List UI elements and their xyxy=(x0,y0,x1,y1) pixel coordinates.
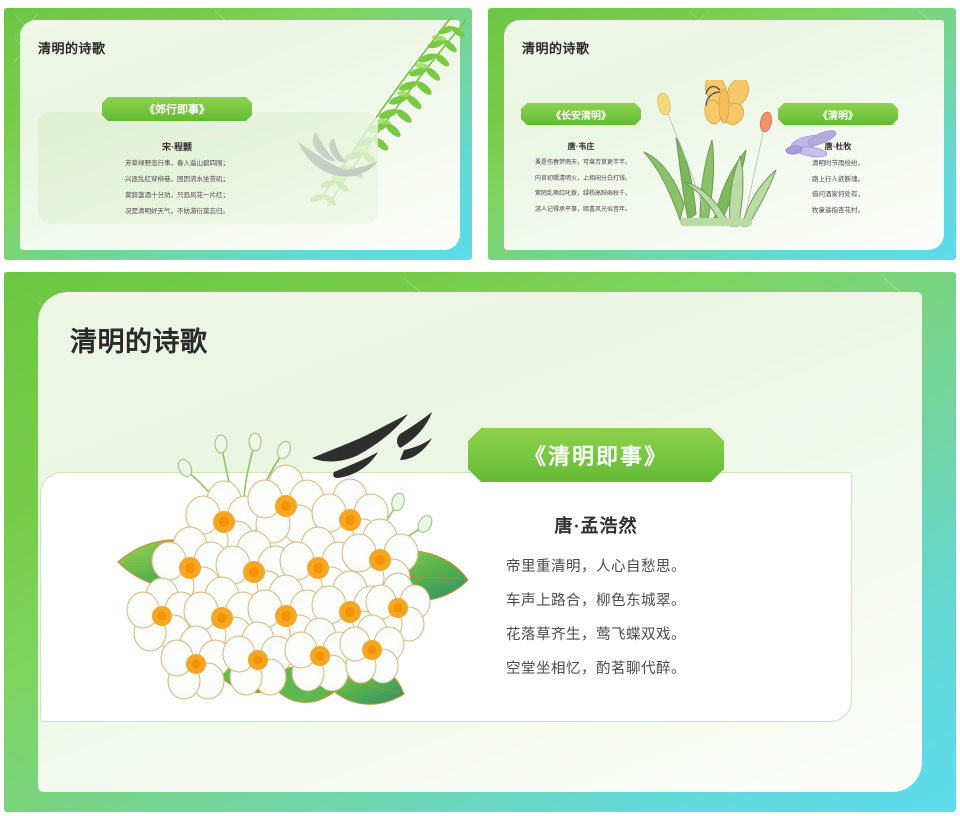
slide-2-poem-author-right: 唐·杜牧 xyxy=(778,141,898,152)
poem-line: 借问酒家何处有， xyxy=(778,187,898,203)
slide-2-poem-badge-right[interactable]: 《清明》 xyxy=(778,103,898,125)
slide-2-poem-badge-left[interactable]: 《长安清明》 xyxy=(521,103,641,125)
poem-line: 兴逐乱红穿柳巷，困因流水坐苔矶； xyxy=(62,172,292,188)
poem-line: 紫陌乱嘶红叱拨，绿杨高映画秋千。 xyxy=(508,187,658,203)
poem-line: 清明时节雨纷纷， xyxy=(778,156,898,172)
slide-3-poem-author: 唐·孟浩然 xyxy=(468,512,724,538)
poem-line: 帝里重清明，人心自愁思。 xyxy=(424,550,768,584)
poem-line: 空堂坐相忆，酌茗聊代醉。 xyxy=(424,652,768,686)
slide-2-title: 清明的诗歌 xyxy=(522,38,590,57)
slide-2-poem-lines-right: 清明时节雨纷纷， 路上行人欲断魂。 借问酒家何处有， 牧童遥指杏花村。 xyxy=(778,156,898,218)
slide-2-poem-lines-left: 蚤是伤春梦雨天，可堪芳草更芊芊。 内官初赐清明火，上相闲分白打钱。 紫陌乱嘶红叱… xyxy=(508,156,658,218)
slide-1-poem-badge[interactable]: 《郊行即事》 xyxy=(102,97,252,121)
slide-thumbnail-3[interactable]: 清明的诗歌 《清明即事》 唐·孟浩然 帝里重清明，人心自愁思。 车声上路合，柳色… xyxy=(4,272,956,812)
slide-1-title: 清明的诗歌 xyxy=(38,38,106,57)
poem-line: 况是清明好天气，不妨游衍莫忘归。 xyxy=(62,204,292,220)
slide-thumbnail-2[interactable]: 清明的诗歌 《长安清明》 唐·韦庄 蚤是伤春梦雨天，可堪芳草更芊芊。 内官初赐清… xyxy=(488,8,956,260)
slide-3-title: 清明的诗歌 xyxy=(70,320,208,359)
poem-line: 游人记得承平事，暗喜风光似昔年。 xyxy=(508,203,658,219)
slide-thumbnail-1[interactable]: 清明的诗歌 《郊行即事》 宋·程颢 芳草绿野恣行事，春入遥山碧四围； 兴逐乱红穿… xyxy=(4,8,472,260)
poem-line: 芳草绿野恣行事，春入遥山碧四围； xyxy=(62,156,292,172)
poem-line: 车声上路合，柳色东城翠。 xyxy=(424,584,768,618)
poem-line: 路上行人欲断魂。 xyxy=(778,172,898,188)
slide-3-poem-badge[interactable]: 《清明即事》 xyxy=(468,428,724,482)
poem-line: 花落草齐生，莺飞蝶双戏。 xyxy=(424,618,768,652)
poem-line: 蚤是伤春梦雨天，可堪芳草更芊芊。 xyxy=(508,156,658,172)
poem-line: 莫辞盏酒十分劝，只恐风花一片红； xyxy=(62,188,292,204)
slide-1-poem-author: 宋·程颢 xyxy=(102,140,252,153)
slide-2-poem-author-left: 唐·韦庄 xyxy=(521,141,641,152)
poem-line: 牧童遥指杏花村。 xyxy=(778,203,898,219)
slide-1-poem-lines: 芳草绿野恣行事，春入遥山碧四围； 兴逐乱红穿柳巷，困因流水坐苔矶； 莫辞盏酒十分… xyxy=(62,156,292,220)
poem-line: 内官初赐清明火，上相闲分白打钱。 xyxy=(508,172,658,188)
slide-deck: 清明的诗歌 《郊行即事》 宋·程颢 芳草绿野恣行事，春入遥山碧四围； 兴逐乱红穿… xyxy=(0,0,960,816)
slide-3-poem-lines: 帝里重清明，人心自愁思。 车声上路合，柳色东城翠。 花落草齐生，莺飞蝶双戏。 空… xyxy=(424,550,768,686)
